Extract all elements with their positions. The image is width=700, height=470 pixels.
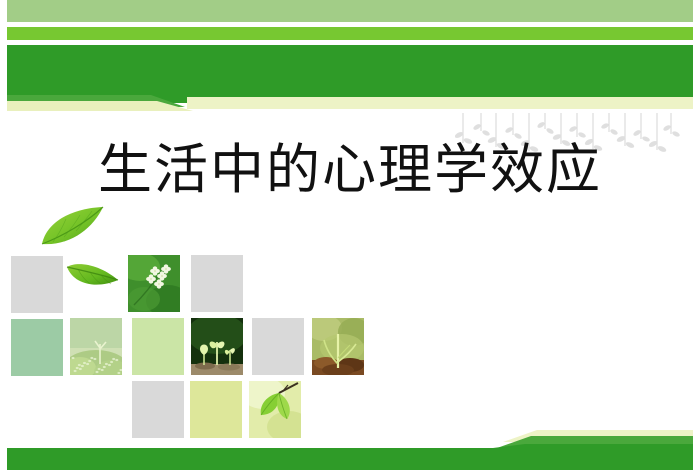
- tile-gray-2: [191, 255, 243, 312]
- tile-photo-dewgrass: [70, 318, 122, 375]
- tile-solid-green-2: [132, 318, 184, 375]
- footer-main-fill: [7, 444, 693, 470]
- footer-green-block: [7, 424, 693, 470]
- tile-photo-sprouts: [191, 318, 243, 375]
- tile-gray-3: [252, 318, 304, 375]
- presentation-slide: 生活中的心理学效应: [0, 0, 700, 470]
- green-leaf-ornament-icon: [33, 206, 141, 314]
- tile-solid-green-1: [11, 319, 63, 376]
- tile-photo-soil: [312, 318, 364, 375]
